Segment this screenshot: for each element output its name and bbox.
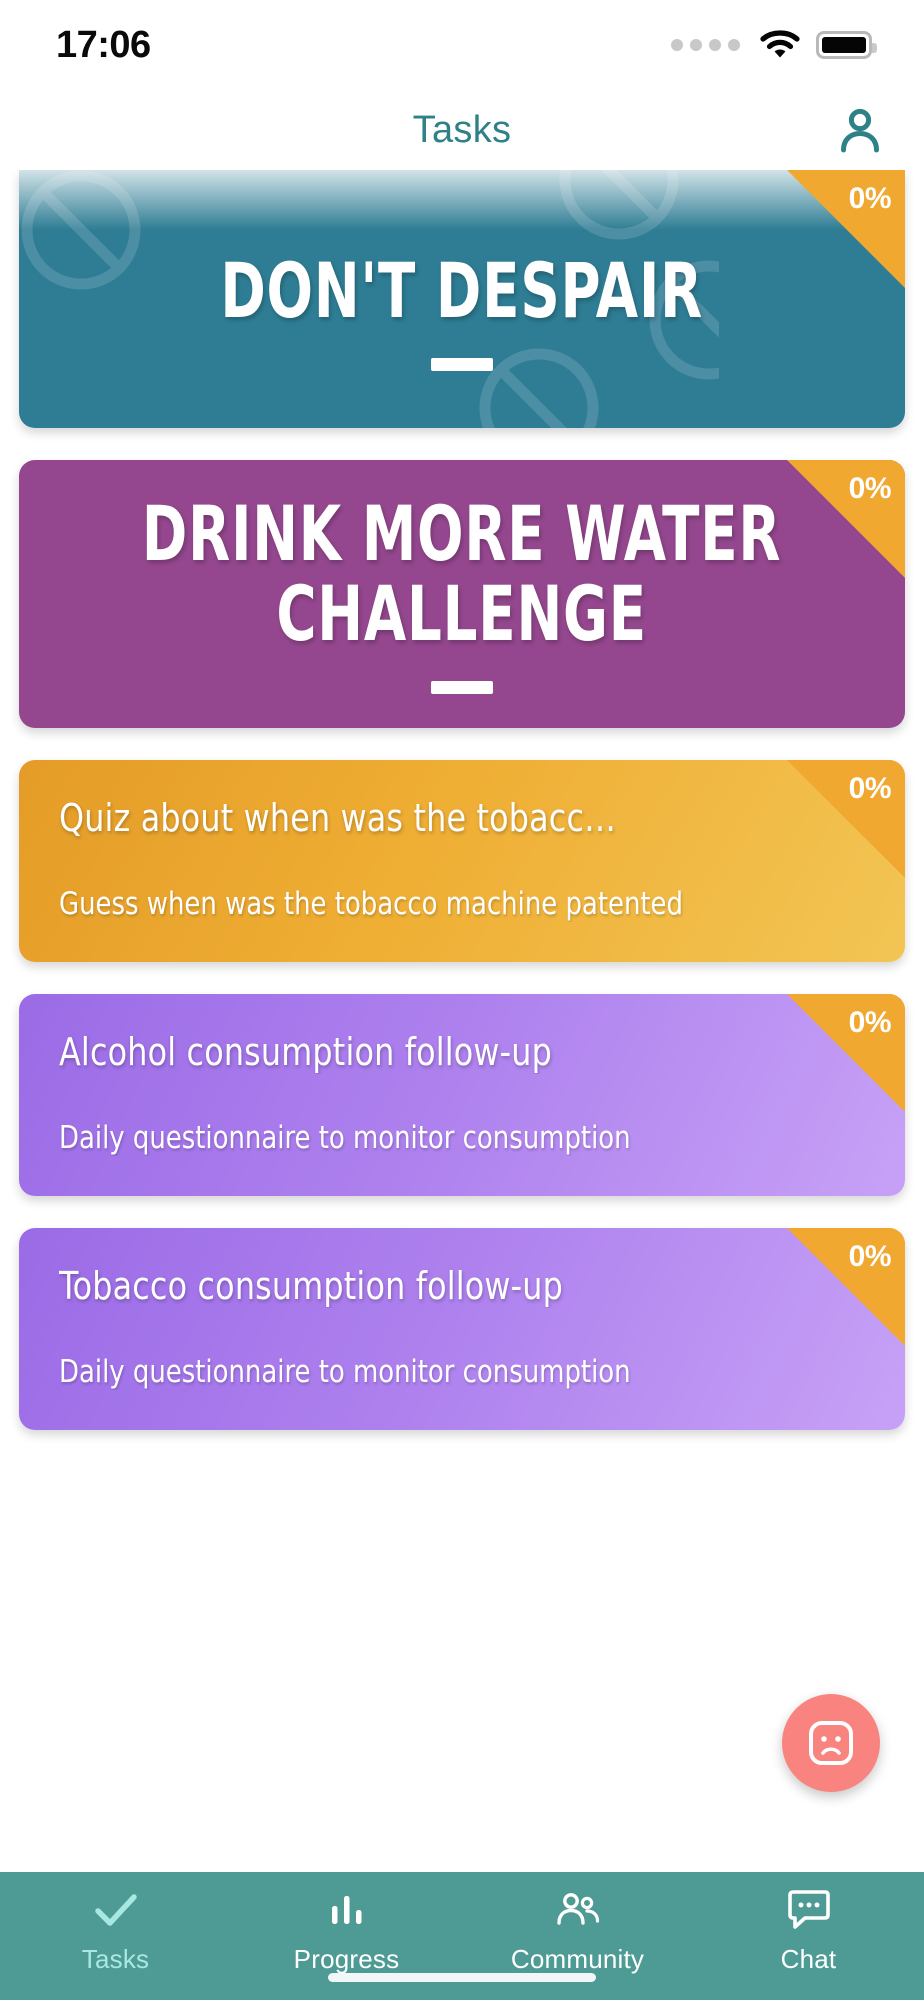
tab-label: Community — [511, 1944, 644, 1975]
chat-bubble-icon — [785, 1886, 833, 1934]
home-indicator — [328, 1973, 596, 1982]
signal-dots-icon — [671, 39, 740, 51]
card-title-line-2: CHALLENGE — [261, 574, 664, 653]
page-title: Tasks — [413, 109, 512, 152]
tab-progress[interactable]: Progress — [231, 1886, 462, 1975]
card-subtitle: Daily questionnaire to monitor consumpti… — [59, 1120, 809, 1156]
mood-fab-button[interactable] — [782, 1694, 880, 1792]
card-subtitle: Daily questionnaire to monitor consumpti… — [59, 1354, 809, 1390]
card-title: Quiz about when was the tobacc… — [59, 796, 617, 840]
status-bar-indicators — [671, 30, 872, 60]
tab-label: Chat — [781, 1944, 837, 1975]
card-divider — [431, 681, 493, 694]
card-subtitle: Guess when was the tobacco machine paten… — [59, 886, 809, 922]
task-card-alcohol-followup[interactable]: 0% Alcohol consumption follow-up Daily q… — [19, 994, 905, 1196]
wifi-icon — [760, 30, 800, 60]
task-card-drink-more-water[interactable]: 0% DRINK MORE WATER CHALLENGE — [19, 460, 905, 728]
tab-label: Tasks — [82, 1944, 149, 1975]
bar-chart-icon — [325, 1886, 369, 1934]
card-title: DON'T DESPAIR — [205, 251, 720, 330]
battery-full-icon — [816, 31, 872, 59]
task-list-scroll-area[interactable]: 0% DON'T DESPAIR 0% DRINK MORE WATER CHA… — [0, 170, 924, 1872]
card-title: Alcohol consumption follow-up — [59, 1030, 617, 1074]
tab-tasks[interactable]: Tasks — [0, 1886, 231, 1975]
person-icon[interactable] — [832, 102, 888, 158]
card-divider — [431, 358, 493, 371]
tab-chat[interactable]: Chat — [693, 1886, 924, 1975]
card-title-line-1: DRINK MORE WATER — [126, 494, 797, 573]
tab-label: Progress — [294, 1944, 400, 1975]
check-icon — [93, 1886, 139, 1934]
task-card-dont-despair[interactable]: 0% DON'T DESPAIR — [19, 170, 905, 428]
tab-community[interactable]: Community — [462, 1886, 693, 1975]
sad-face-icon — [805, 1717, 857, 1769]
people-icon — [552, 1886, 604, 1934]
task-card-list: 0% DON'T DESPAIR 0% DRINK MORE WATER CHA… — [19, 170, 905, 1430]
nav-bar: Tasks — [0, 90, 924, 170]
task-card-tobacco-quiz[interactable]: 0% Quiz about when was the tobacc… Guess… — [19, 760, 905, 962]
card-title: Tobacco consumption follow-up — [59, 1264, 617, 1308]
status-bar: 17:06 — [0, 0, 924, 90]
task-card-tobacco-followup[interactable]: 0% Tobacco consumption follow-up Daily q… — [19, 1228, 905, 1430]
status-bar-time: 17:06 — [56, 24, 151, 67]
